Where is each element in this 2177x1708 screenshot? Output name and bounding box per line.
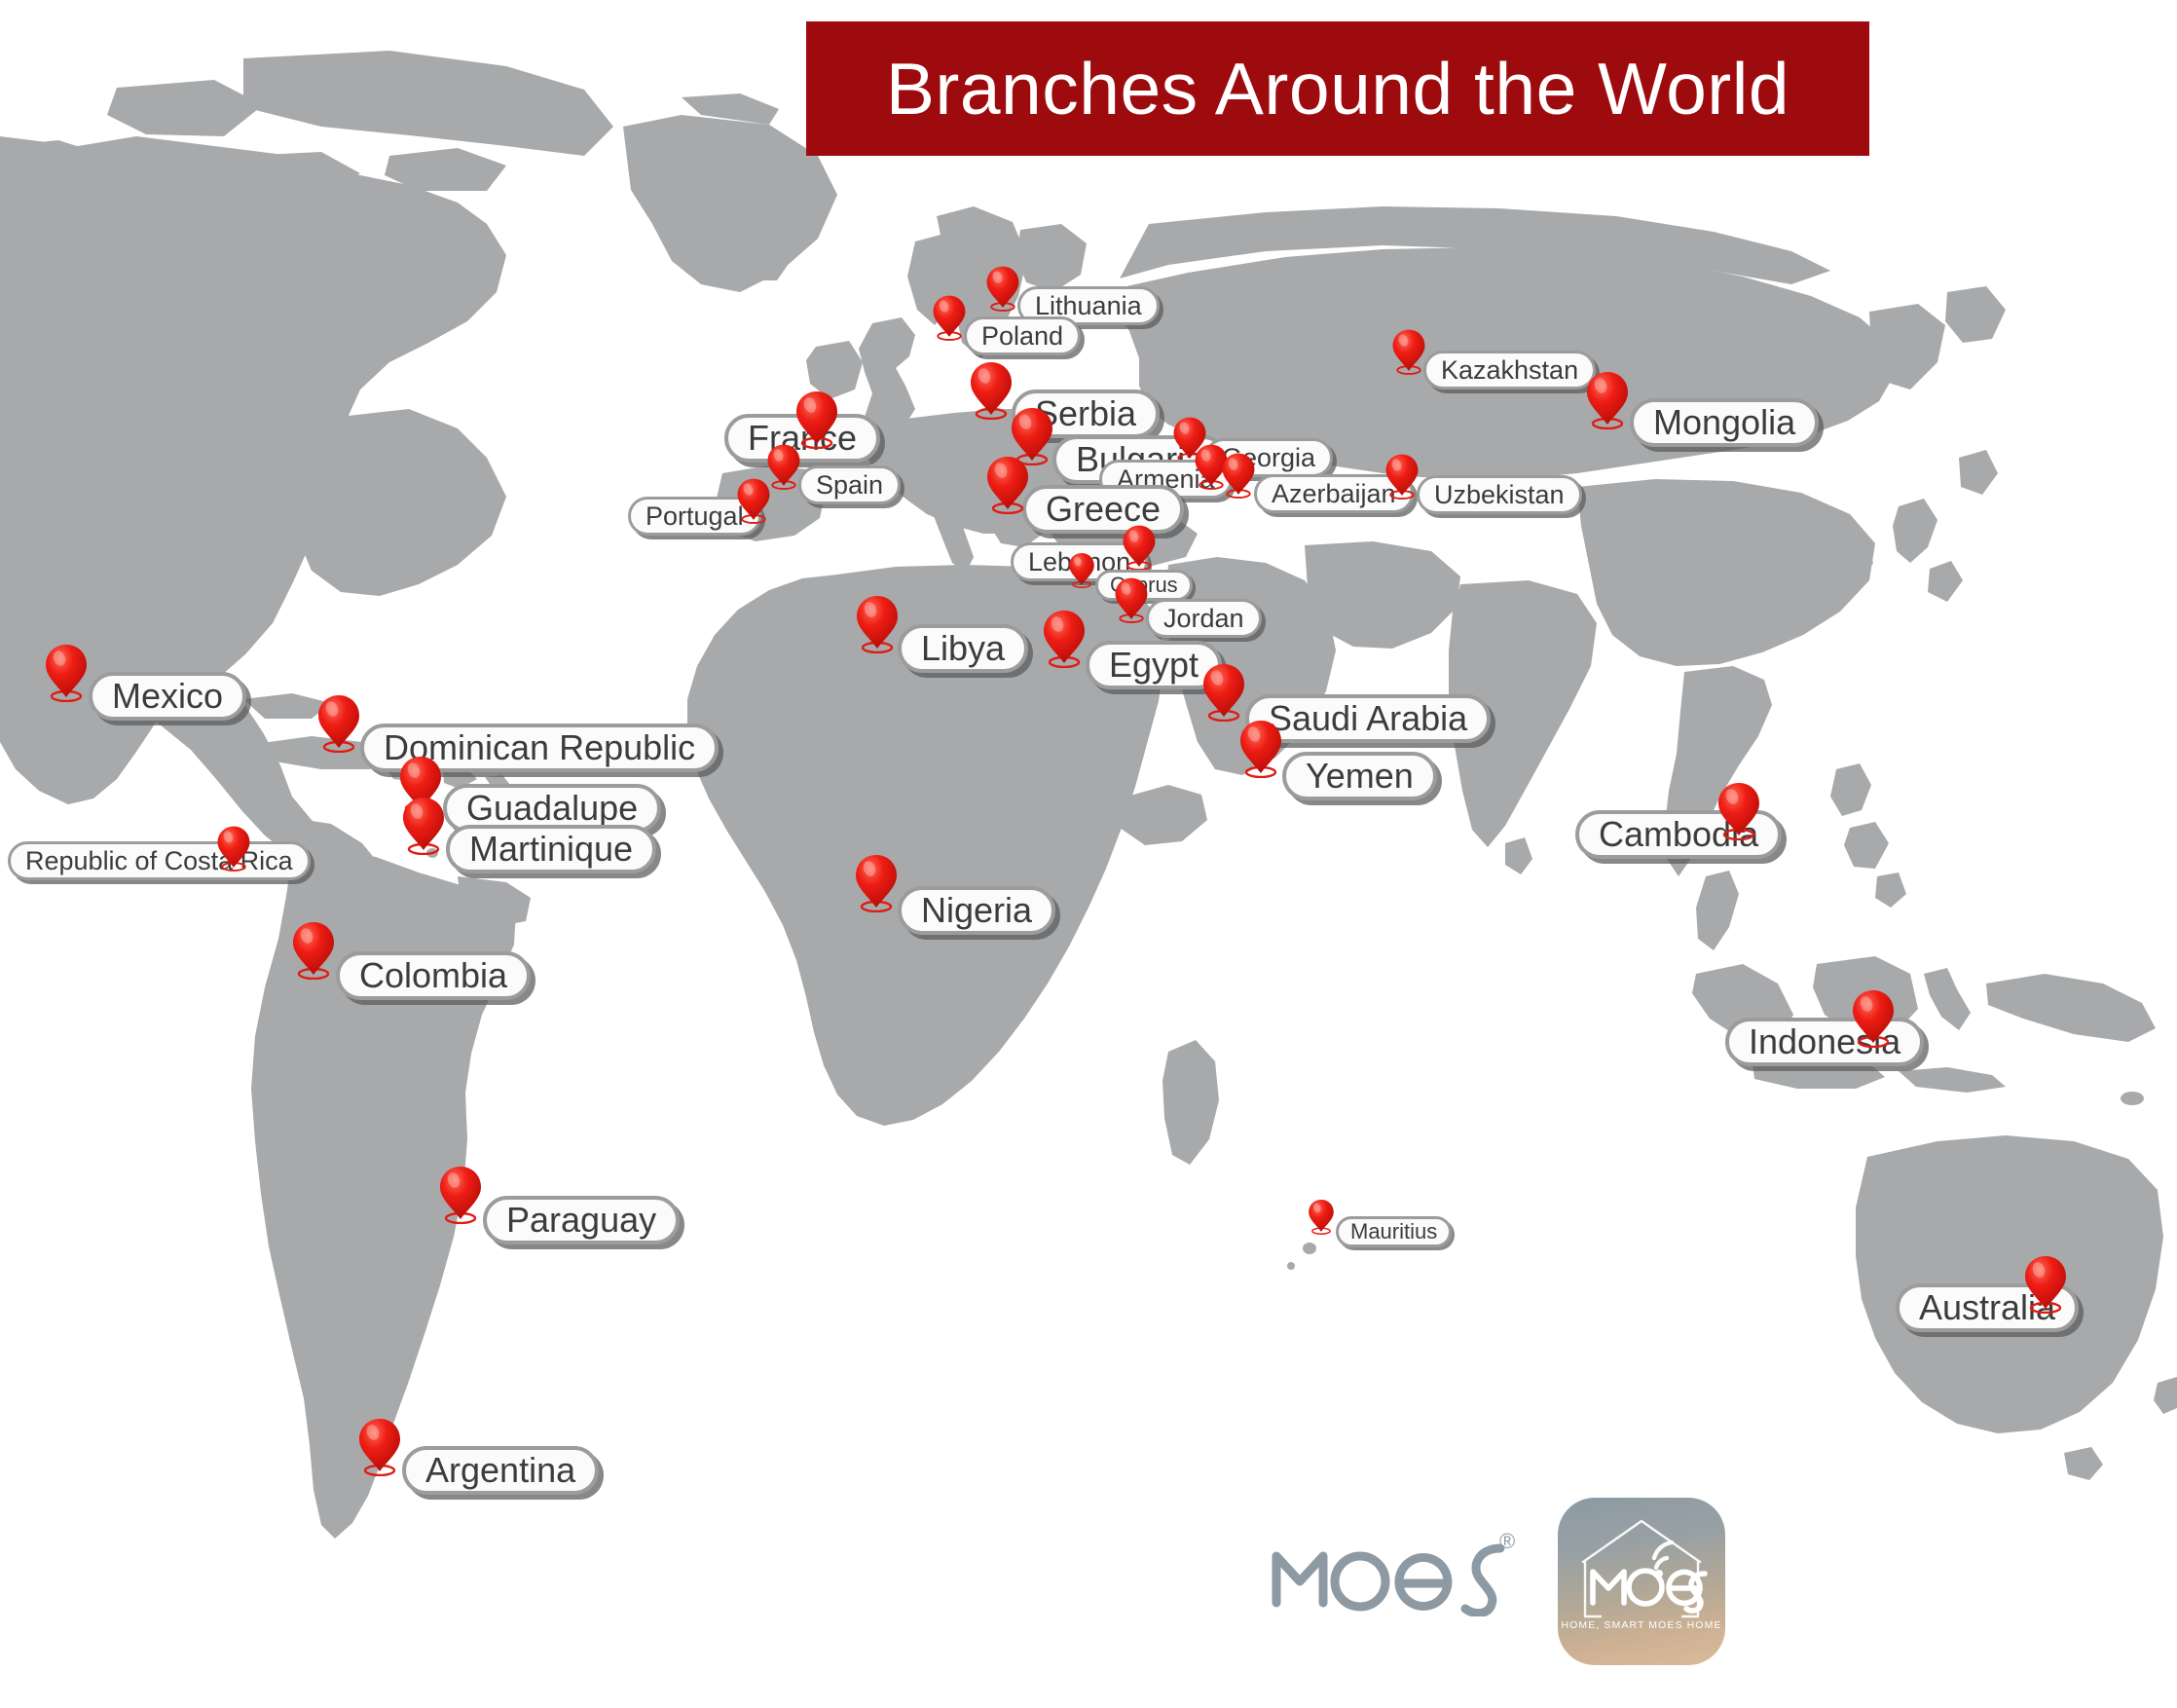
- map-pin-icon-spain[interactable]: [766, 442, 801, 490]
- marker-label-text: Portugal: [646, 503, 744, 530]
- map-pin-icon-jordan[interactable]: [1114, 576, 1149, 623]
- moes-wordmark-logo: [1271, 1527, 1514, 1616]
- marker-label-text: Argentina: [425, 1453, 575, 1488]
- marker-label-mauritius[interactable]: Mauritius: [1336, 1216, 1452, 1247]
- marker-label-text: Nigeria: [921, 893, 1032, 928]
- map-pin-icon-uzbekistan[interactable]: [1384, 452, 1420, 500]
- marker-label-text: Yemen: [1306, 759, 1414, 794]
- moes-app-icon[interactable]: HOME, SMART MOES HOME: [1558, 1498, 1725, 1665]
- registered-trademark-mark: ®: [1499, 1529, 1515, 1554]
- marker-label-martinique[interactable]: Martinique: [446, 825, 656, 873]
- marker-label-jordan[interactable]: Jordan: [1146, 599, 1262, 638]
- marker-label-argentina[interactable]: Argentina: [402, 1446, 599, 1495]
- map-pin-icon-greece[interactable]: [985, 454, 1030, 514]
- marker-label-text: Mexico: [112, 679, 223, 714]
- map-pin-icon-serbia[interactable]: [969, 359, 1014, 420]
- world-map-infographic: Branches Around the World LithuaniaPolan…: [0, 0, 2177, 1708]
- map-pin-icon-australia[interactable]: [2023, 1253, 2068, 1314]
- map-pin-icon-france[interactable]: [794, 389, 839, 449]
- marker-label-text: Martinique: [469, 832, 633, 867]
- map-pin-icon-poland[interactable]: [932, 293, 967, 341]
- map-pin-icon-paraguay[interactable]: [438, 1164, 483, 1224]
- page-title: Branches Around the World: [886, 53, 1790, 126]
- map-pin-icon-nigeria[interactable]: [854, 852, 899, 912]
- map-pin-icon-azerbaijan[interactable]: [1221, 451, 1256, 499]
- map-pin-icon-costa-rica[interactable]: [216, 824, 251, 872]
- map-pin-icon-libya[interactable]: [855, 593, 900, 653]
- marker-label-yemen[interactable]: Yemen: [1282, 752, 1437, 800]
- map-pin-icon-egypt[interactable]: [1042, 608, 1087, 668]
- marker-label-libya[interactable]: Libya: [898, 624, 1028, 673]
- map-pin-icon-kazakhstan[interactable]: [1391, 327, 1426, 375]
- landmasses: [0, 51, 2177, 1539]
- marker-label-text: Jordan: [1163, 606, 1244, 632]
- marker-label-text: Uzbekistan: [1434, 482, 1565, 508]
- marker-label-uzbekistan[interactable]: Uzbekistan: [1417, 475, 1582, 514]
- marker-label-mongolia[interactable]: Mongolia: [1630, 398, 1819, 447]
- marker-label-text: Mongolia: [1653, 405, 1795, 440]
- marker-label-text: Paraguay: [506, 1203, 656, 1238]
- svg-text:HOME, SMART MOES HOME: HOME, SMART MOES HOME: [1561, 1619, 1721, 1631]
- world-map-graphic: [0, 0, 2177, 1708]
- marker-label-nigeria[interactable]: Nigeria: [898, 886, 1055, 935]
- map-pin-icon-indonesia[interactable]: [1851, 987, 1896, 1048]
- marker-label-costa-rica[interactable]: Republic of Costa Rica: [8, 841, 311, 880]
- marker-label-text: Egypt: [1109, 648, 1199, 683]
- map-pin-icon-cyprus[interactable]: [1068, 551, 1095, 588]
- marker-label-text: Lithuania: [1035, 293, 1142, 319]
- map-pin-icon-yemen[interactable]: [1238, 718, 1283, 778]
- marker-label-paraguay[interactable]: Paraguay: [483, 1196, 680, 1244]
- marker-label-poland[interactable]: Poland: [964, 316, 1081, 355]
- page-title-banner: Branches Around the World: [806, 21, 1869, 156]
- marker-label-text: Kazakhstan: [1441, 357, 1578, 384]
- marker-label-text: Azerbaijan: [1272, 481, 1396, 507]
- marker-label-kazakhstan[interactable]: Kazakhstan: [1423, 351, 1596, 390]
- map-pin-icon-mexico[interactable]: [44, 642, 89, 702]
- marker-label-text: Saudi Arabia: [1269, 701, 1467, 736]
- marker-label-colombia[interactable]: Colombia: [336, 951, 531, 1000]
- map-pin-icon-mauritius[interactable]: [1308, 1198, 1335, 1235]
- marker-label-greece[interactable]: Greece: [1022, 485, 1184, 534]
- marker-label-mexico[interactable]: Mexico: [89, 672, 246, 721]
- map-pin-icon-lithuania[interactable]: [985, 264, 1020, 312]
- marker-label-spain[interactable]: Spain: [798, 465, 901, 504]
- map-pin-icon-saudi-arabia[interactable]: [1201, 661, 1246, 722]
- map-pin-icon-portugal[interactable]: [736, 476, 771, 524]
- marker-label-text: Guadalupe: [466, 791, 638, 826]
- map-pin-icon-cambodia[interactable]: [1716, 780, 1761, 840]
- map-pin-icon-colombia[interactable]: [291, 919, 336, 980]
- map-pin-icon-dominican[interactable]: [316, 692, 361, 753]
- marker-label-text: Spain: [816, 472, 883, 499]
- map-pin-icon-mongolia[interactable]: [1585, 369, 1630, 429]
- marker-label-text: Libya: [921, 631, 1005, 666]
- map-pin-icon-argentina[interactable]: [357, 1416, 402, 1476]
- marker-label-text: Republic of Costa Rica: [25, 848, 293, 874]
- map-pin-icon-martinique[interactable]: [401, 795, 446, 855]
- marker-label-text: Poland: [981, 323, 1063, 350]
- map-pin-icon-lebanon[interactable]: [1122, 523, 1157, 571]
- marker-label-text: Colombia: [359, 958, 507, 993]
- marker-label-text: Mauritius: [1350, 1221, 1437, 1243]
